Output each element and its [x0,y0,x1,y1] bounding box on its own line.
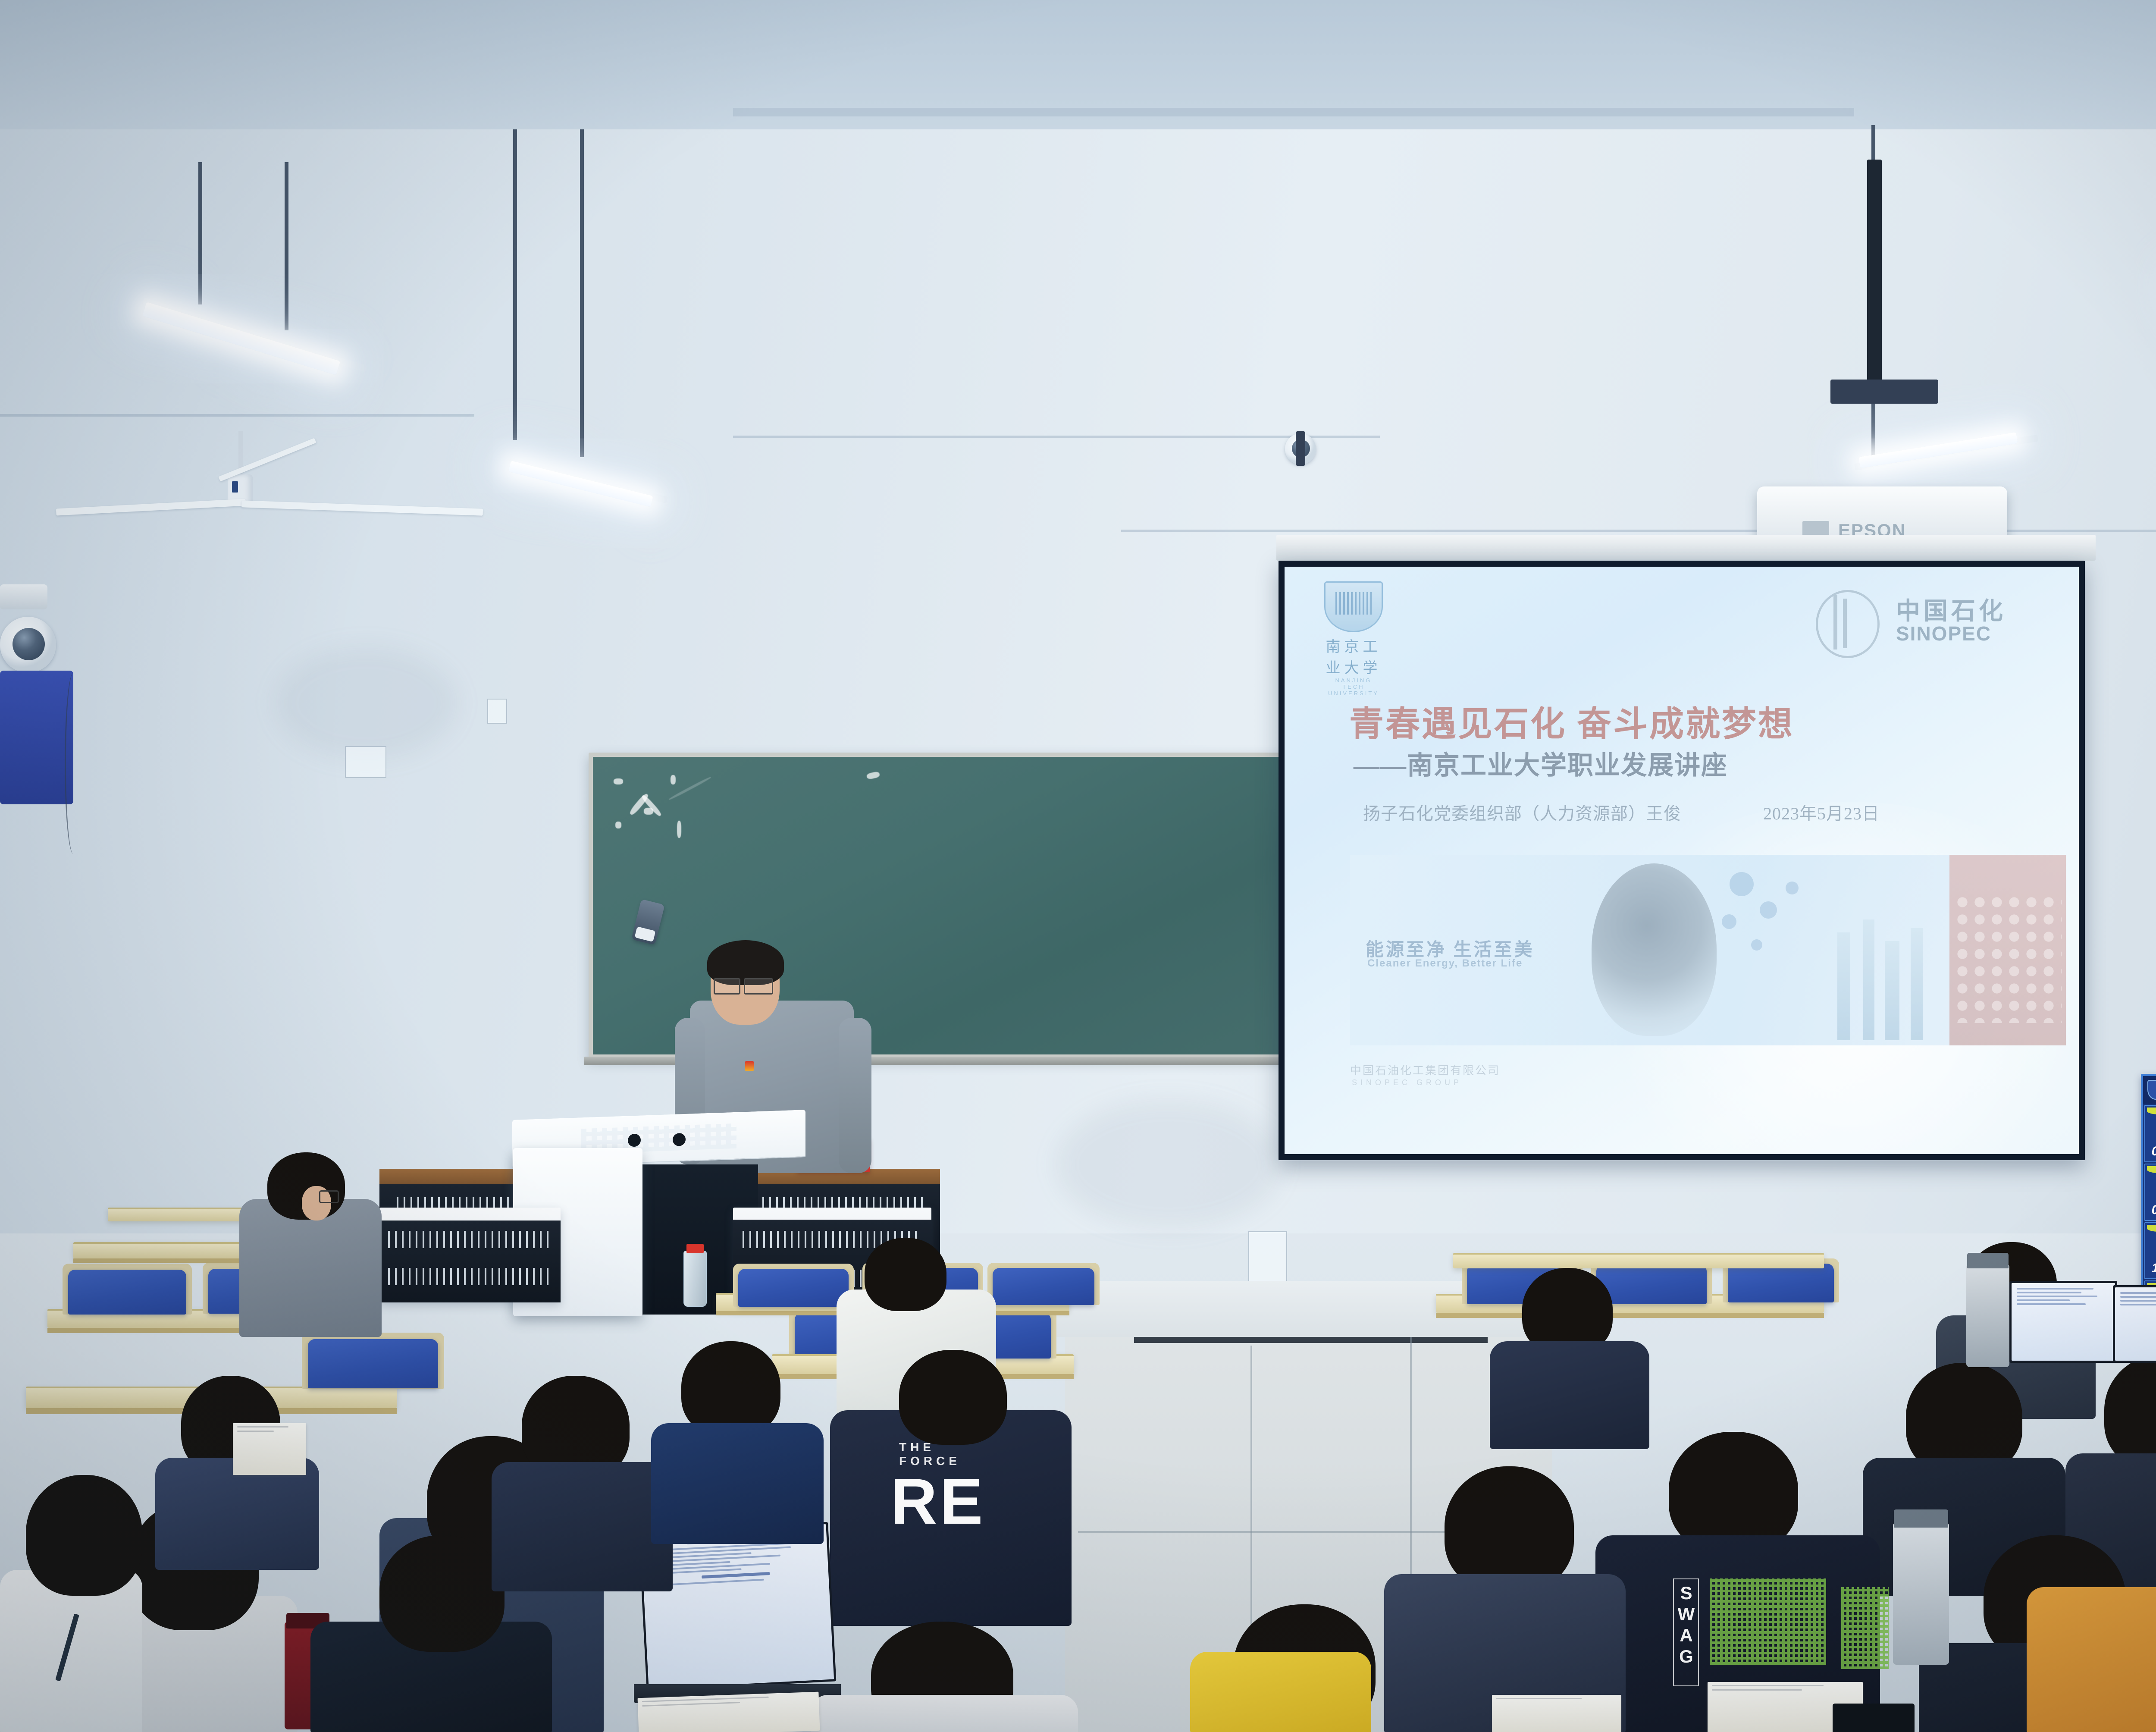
thermos-cap [1967,1253,2009,1268]
thermos-cap [1894,1509,1948,1528]
projection-screen[interactable]: 南京工业大学 NANJING TECH UNIVERSITY 中国石化 SINO… [1279,561,2085,1160]
student-head [26,1475,142,1596]
sinopec-mark-icon [1816,590,1880,658]
company-name-en: SINOPEC [1896,622,1991,645]
presentation-slide: 南京工业大学 NANJING TECH UNIVERSITY 中国石化 SINO… [1285,567,2079,1154]
student-head [1445,1466,1574,1591]
auditorium-seat[interactable] [308,1339,438,1388]
student-body [492,1462,673,1591]
student-head [1669,1432,1798,1553]
laptop-screen[interactable] [2113,1285,2156,1363]
wall-seam [0,414,474,417]
wall-seam [733,436,1380,438]
wall-equipment-box [0,671,73,804]
auditorium-seat[interactable] [738,1269,849,1307]
presenter-arm [839,1018,871,1173]
wall-equipment-box [0,584,47,609]
student-body [1190,1652,1371,1732]
slide-slogan-en: Cleaner Energy, Better Life [1367,957,1523,970]
university-shield-icon [1324,581,1383,632]
wall-notice-card [1248,1231,1287,1283]
auditorium-seat[interactable] [993,1268,1094,1305]
auditorium-seat[interactable] [68,1270,186,1315]
university-name-en: NANJING TECH UNIVERSITY [1324,677,1383,697]
lecture-hall-photo: EPSON 南京工业大学 NANJING TECH UNIVERSITY 中国石… [0,0,2156,1732]
student-body [651,1423,824,1544]
wall-smudge [276,647,457,759]
wall-switch-plate [345,746,386,778]
notes-paper[interactable] [1492,1695,1621,1732]
hero-dot-pattern [1954,894,2062,1023]
light-suspension-rod [580,129,584,457]
ceiling-beam [733,108,1854,116]
tee-side-text: SWAG [1673,1578,1699,1686]
locker-pocket[interactable]: 13 [2144,1222,2156,1280]
slide-footer-cn: 中国石油化工集团有限公司 [1350,1062,1500,1078]
university-name-cn: 南京工业大学 [1324,635,1383,677]
university-logo: 南京工业大学 NANJING TECH UNIVERSITY [1324,581,1383,663]
phone[interactable] [1833,1704,1915,1732]
party-emblem-pin [745,1061,754,1071]
auditorium-seat[interactable] [1596,1264,1707,1304]
locker-pocket[interactable]: 07 [2144,1164,2156,1221]
hero-portrait [1592,863,1717,1036]
hoodie-big-text: RE [890,1464,985,1539]
projector-mount [1830,380,1938,404]
slide-title: 青春遇见石化 奋斗成就梦想 [1349,696,1794,746]
slide-hero-image: 能源至净 生活至美 Cleaner Energy, Better Life [1350,855,2066,1045]
light-suspension-rod [285,162,288,330]
tee-graphic [1841,1587,1889,1669]
notes-paper[interactable] [233,1423,306,1475]
student-body [1490,1341,1649,1449]
slide-footer-en: SINOPEC GROUP [1352,1078,1462,1087]
student-head [379,1535,505,1652]
thermos-bottle [1893,1522,1949,1665]
student-glasses [319,1190,339,1203]
water-bottle [683,1251,707,1307]
wall-switch-plate [487,699,507,724]
front-cabinet-face [379,1221,561,1302]
locker-pocket-number: 13 [2152,1261,2156,1276]
light-suspension-rod [198,162,202,304]
presenter-glasses [744,978,773,995]
student-head [681,1341,780,1436]
presenter-glasses [714,978,740,995]
student-head [899,1350,1007,1445]
screen-roller [1276,535,2096,561]
projector-pole [1867,160,1882,388]
student-body [239,1199,382,1337]
slide-date: 2023年5月23日 [1763,800,1880,825]
laptop-screen[interactable] [2009,1281,2117,1363]
light-suspension-rod [513,129,517,440]
camera-mount [1296,431,1305,466]
school-emblem-icon [2147,1080,2156,1100]
auditorium-seat[interactable] [1728,1264,1834,1302]
student-head [865,1238,946,1311]
locker-pocket-number: 07 [2152,1203,2156,1217]
notes-paper[interactable] [638,1692,820,1732]
thermos-bottle [1966,1264,2009,1367]
student-desk [1453,1253,1824,1268]
slide-subtitle: ——南京工业大学职业发展讲座 [1354,744,1728,782]
tee-graphic [1710,1578,1826,1665]
locker-pocket-number: 01 [2152,1144,2156,1159]
cable [65,673,82,854]
student-body [811,1695,1078,1732]
slide-presenter: 扬子石化党委组织部（人力资源部）王俊 [1363,800,1681,825]
bottle-cap [686,1244,704,1253]
student-body [2027,1587,2156,1732]
locker-pocket[interactable]: 01 [2144,1105,2156,1162]
wall-smudge [1056,1100,1281,1229]
laptop-display [2012,1283,2115,1361]
security-camera-icon [0,617,56,673]
locker-header: 手机入袋，课堂入心 校团委 校学生会（宣） [2143,1076,2156,1104]
laptop-display [2115,1287,2156,1361]
company-name-cn: 中国石化 [1896,592,2006,627]
